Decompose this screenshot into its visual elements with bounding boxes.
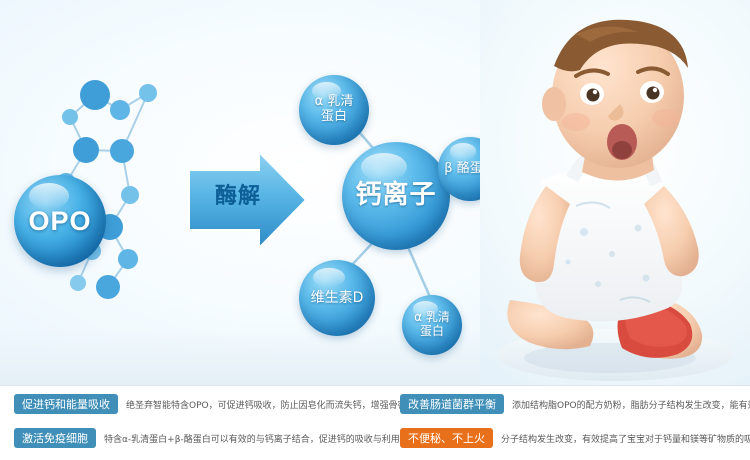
bubble-vitamin-d: 维生素D [299,260,375,336]
benefit-item-1: 促进钙和能量吸收 绝圣弃智能特含OPO，可促进钙吸收，防止因皂化而流失钙，增强骨… [14,394,425,414]
bubble-line1: α 乳清 [414,311,450,325]
opo-label: OPO [28,206,91,237]
benefit-desc: 分子结构发生改变，有效提高了宝宝对于钙量和镁等矿物质的吸收和利用。 [501,432,750,445]
benefit-desc: 特含α-乳清蛋白+β-酪蛋白可以有效的与钙离子结合，促进钙的吸收与利用。 [104,432,409,445]
benefit-item-4: 不便秘、不上火 分子结构发生改变，有效提高了宝宝对于钙量和镁等矿物质的吸收和利用… [400,428,750,448]
bubble-line2: 蛋白 [321,110,347,125]
strip-divider [0,385,750,386]
bubble-alpha-whey-protein-top: α 乳清 蛋白 [299,75,369,145]
bubble-alpha-whey-protein-bottom: α 乳清 蛋白 [402,295,462,355]
molecule-cluster: OPO [0,55,190,325]
baby-photo [480,0,750,385]
arrow-label: 酶解 [198,178,278,210]
benefit-desc: 绝圣弃智能特含OPO，可促进钙吸收，防止因皂化而流失钙，增强骨密度。 [126,398,425,411]
benefits-row-2: 激活免疫细胞 特含α-乳清蛋白+β-酪蛋白可以有效的与钙离子结合，促进钙的吸收与… [0,423,750,453]
bubble-line1: 维生素D [311,290,364,306]
opo-sphere: OPO [14,175,106,267]
benefit-tag: 改善肠道菌群平衡 [400,394,504,414]
poster-root: 肠道健康 宝宝健康 [0,0,750,460]
baby-illustration-svg [480,0,750,385]
benefit-item-2: 改善肠道菌群平衡 添加结构脂OPO的配方奶粉，脂肪分子结构发生改变，能有效减低钙… [400,394,750,414]
benefit-tag: 激活免疫细胞 [14,428,96,448]
bubble-line1: α 乳清 [315,95,354,110]
bubble-calcium-ion: 钙离子 [342,142,450,250]
benefits-strip: 促进钙和能量吸收 绝圣弃智能特含OPO，可促进钙吸收，防止因皂化而流失钙，增强骨… [0,385,750,460]
benefits-row-1: 促进钙和能量吸收 绝圣弃智能特含OPO，可促进钙吸收，防止因皂化而流失钙，增强骨… [0,389,750,419]
bubble-line1: 钙离子 [355,181,436,211]
benefit-tag: 促进钙和能量吸收 [14,394,118,414]
bubble-line2: 蛋白 [420,325,444,339]
benefit-item-3: 激活免疫细胞 特含α-乳清蛋白+β-酪蛋白可以有效的与钙离子结合，促进钙的吸收与… [14,428,409,448]
benefit-desc: 添加结构脂OPO的配方奶粉，脂肪分子结构发生改变，能有效减低钙皂产生。 [512,398,750,411]
benefit-tag: 不便秘、不上火 [400,428,493,448]
